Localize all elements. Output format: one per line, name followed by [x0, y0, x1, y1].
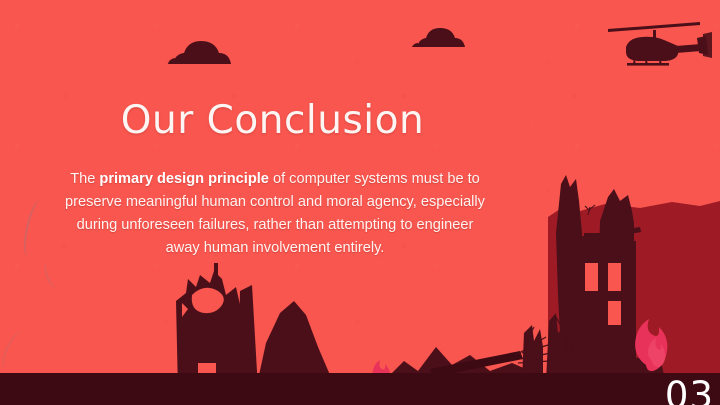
footer-bar: 03	[0, 373, 720, 405]
cloud-icon	[168, 41, 231, 64]
page-number: 03	[665, 377, 714, 405]
slide-canvas: Our Conclusion The primary design princi…	[0, 0, 720, 405]
slide-title: Our Conclusion	[0, 98, 545, 143]
helicopter-icon	[608, 22, 712, 66]
ruined-building-icon	[176, 263, 334, 391]
ruined-city-illustration	[0, 175, 720, 405]
cloud-icon	[412, 28, 465, 47]
